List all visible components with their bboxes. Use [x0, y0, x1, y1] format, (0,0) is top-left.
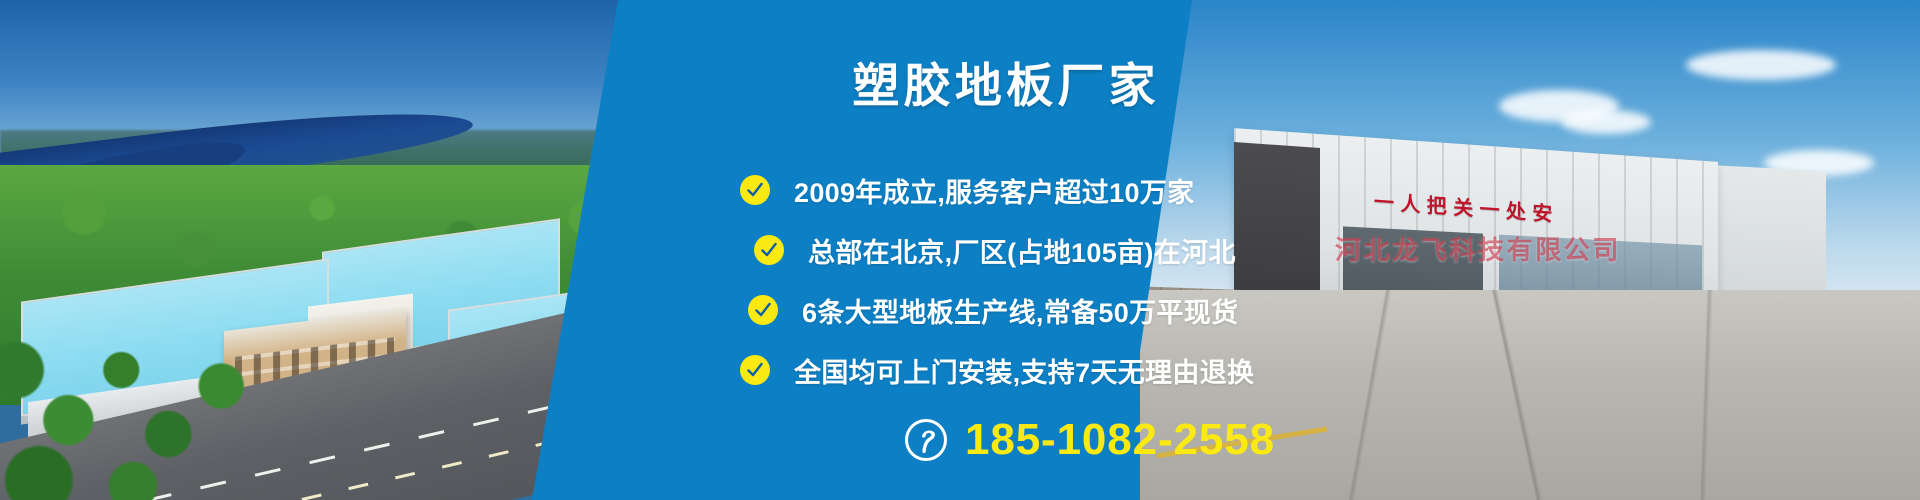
feature-list: 2009年成立,服务客户超过10万家 总部在北京,厂区(占地105亩)在河北 6…: [740, 160, 1360, 400]
feature-item: 2009年成立,服务客户超过10万家: [740, 160, 1360, 220]
contact-phone[interactable]: 185-1082-2558: [905, 418, 1275, 462]
banner-title: 塑胶地板厂家: [0, 56, 1920, 116]
phone-number: 185-1082-2558: [965, 418, 1275, 462]
feature-item: 总部在北京,厂区(占地105亩)在河北: [740, 220, 1360, 280]
feature-item: 全国均可上门安装,支持7天无理由退换: [740, 340, 1360, 400]
promo-banner: 一人把关一处安 河北龙飞科技有限公司 塑胶地板厂家 2009年成立,服务客户超过…: [0, 0, 1920, 500]
feature-item: 6条大型地板生产线,常备50万平现货: [740, 280, 1360, 340]
banner-content: 塑胶地板厂家 2009年成立,服务客户超过10万家 总部在北京,厂区(占地105…: [0, 0, 1920, 500]
check-circle-icon: [748, 295, 778, 325]
check-circle-icon: [740, 355, 770, 385]
check-circle-icon: [754, 235, 784, 265]
feature-text: 2009年成立,服务客户超过10万家: [794, 171, 1194, 210]
feature-text: 6条大型地板生产线,常备50万平现货: [802, 291, 1238, 330]
feature-text: 总部在北京,厂区(占地105亩)在河北: [808, 231, 1236, 270]
phone-icon: [905, 419, 947, 461]
feature-text: 全国均可上门安装,支持7天无理由退换: [794, 351, 1254, 390]
check-circle-icon: [740, 175, 770, 205]
